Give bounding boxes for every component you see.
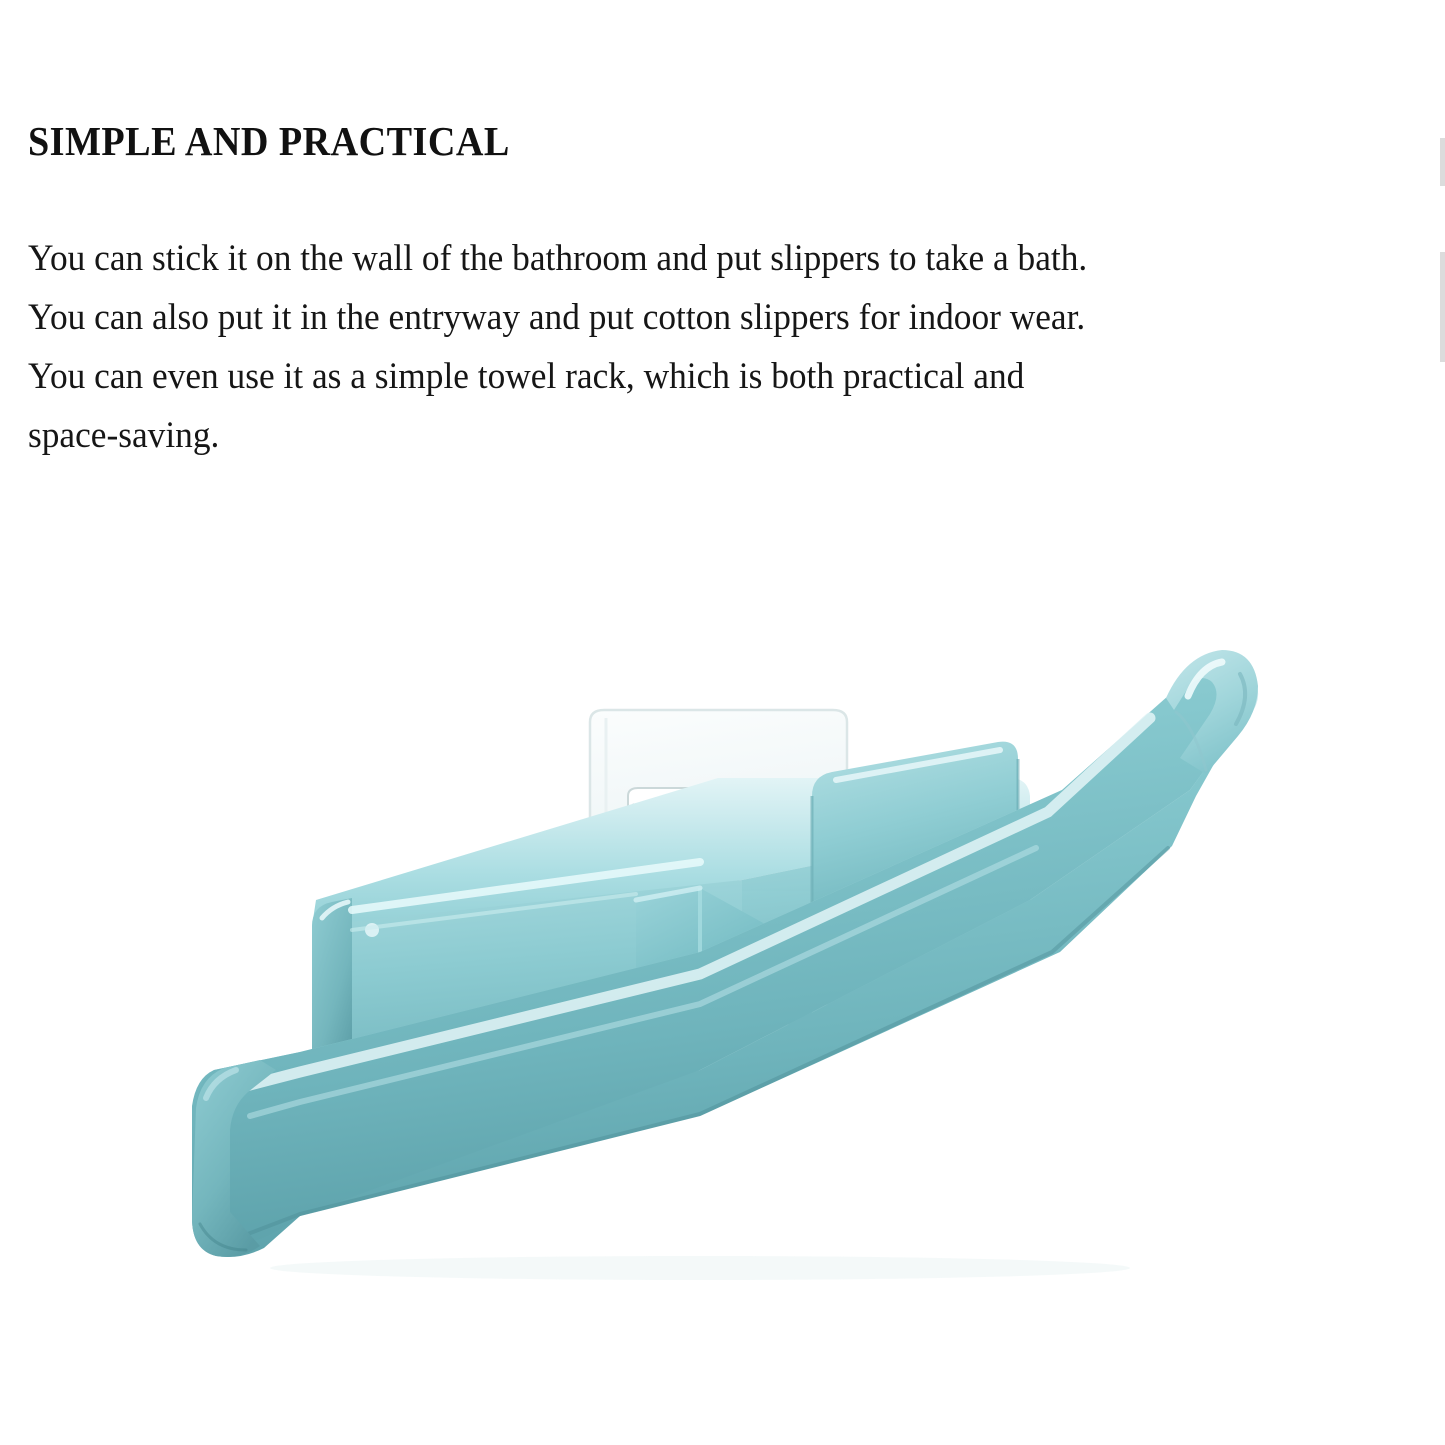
description-line: You can even use it as a simple towel ra… — [28, 347, 1327, 406]
product-image — [0, 600, 1445, 1400]
product-illustration — [0, 600, 1445, 1400]
description-line: You can also put it in the entryway and … — [28, 288, 1327, 347]
text-block: SIMPLE AND PRACTICAL You can stick it on… — [28, 118, 1388, 465]
page-title: SIMPLE AND PRACTICAL — [28, 118, 1293, 165]
right-edge-rule-lower — [1440, 252, 1445, 362]
description-paragraph: You can stick it on the wall of the bath… — [28, 165, 1388, 465]
description-line: space-saving. — [28, 406, 1327, 465]
contact-shadow — [270, 1256, 1130, 1280]
description-line: You can stick it on the wall of the bath… — [28, 229, 1327, 288]
product-description-page: SIMPLE AND PRACTICAL You can stick it on… — [0, 0, 1445, 1445]
right-edge-rule-upper — [1440, 138, 1445, 186]
